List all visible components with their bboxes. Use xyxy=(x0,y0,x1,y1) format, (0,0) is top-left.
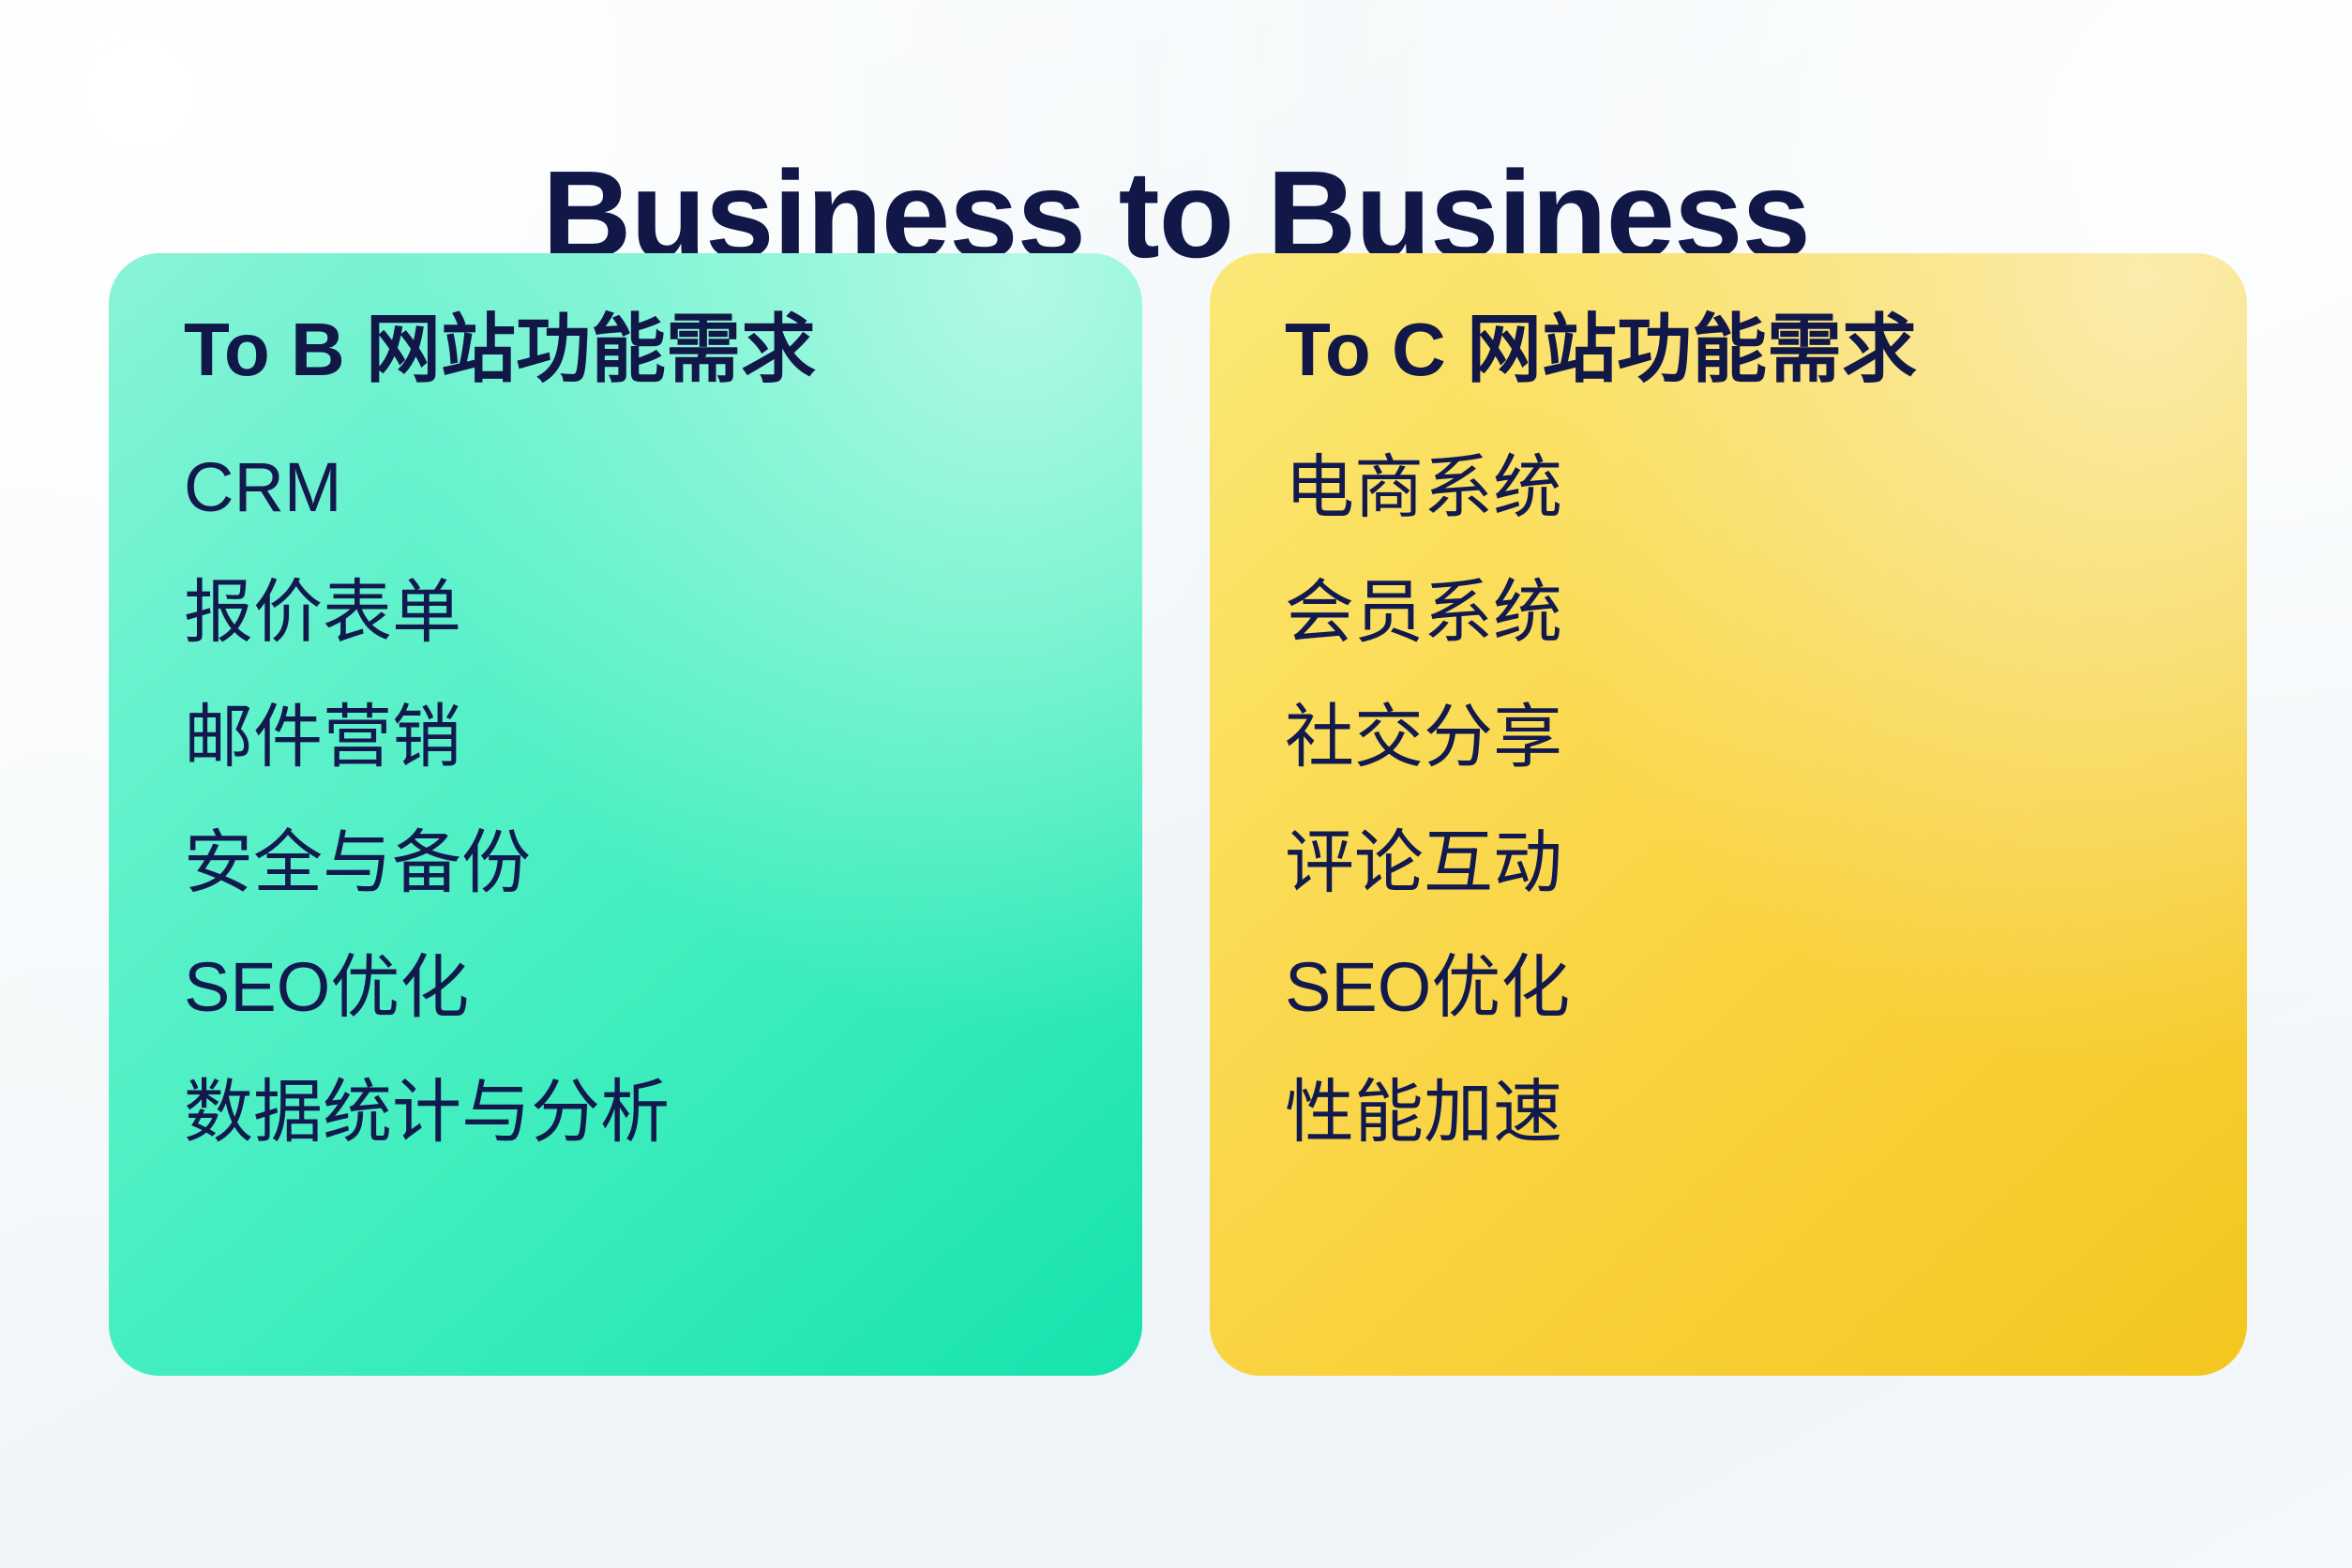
list-item: 评论互动 xyxy=(1285,822,2247,903)
list-item: 数据统计与分析 xyxy=(184,1071,1142,1153)
list-item: 报价表单 xyxy=(184,571,1142,653)
infographic-canvas: Business to Business To B 网站功能需求 CRM 报价表… xyxy=(0,0,2352,1568)
list-item: SEO优化 xyxy=(1285,946,2247,1028)
list-item: 邮件营销 xyxy=(184,696,1142,777)
card-to-b-list: CRM 报价表单 邮件营销 安全与备份 SEO优化 数据统计与分析 xyxy=(184,446,1142,1153)
card-to-b: To B 网站功能需求 CRM 报价表单 邮件营销 安全与备份 SEO优化 数据… xyxy=(109,253,1142,1376)
list-item: 社交分享 xyxy=(1285,696,2247,777)
list-item: 电商系统 xyxy=(1285,446,2247,528)
list-item: CRM xyxy=(184,446,1142,528)
list-item: 安全与备份 xyxy=(184,822,1142,903)
list-item: 性能加速 xyxy=(1285,1071,2247,1153)
list-item: 会员系统 xyxy=(1285,571,2247,653)
list-item: SEO优化 xyxy=(184,946,1142,1028)
card-to-c-title: To C 网站功能需求 xyxy=(1285,308,2247,392)
card-to-c-list: 电商系统 会员系统 社交分享 评论互动 SEO优化 性能加速 xyxy=(1285,446,2247,1153)
card-to-c: To C 网站功能需求 电商系统 会员系统 社交分享 评论互动 SEO优化 性能… xyxy=(1210,253,2247,1376)
card-to-b-title: To B 网站功能需求 xyxy=(184,308,1142,392)
